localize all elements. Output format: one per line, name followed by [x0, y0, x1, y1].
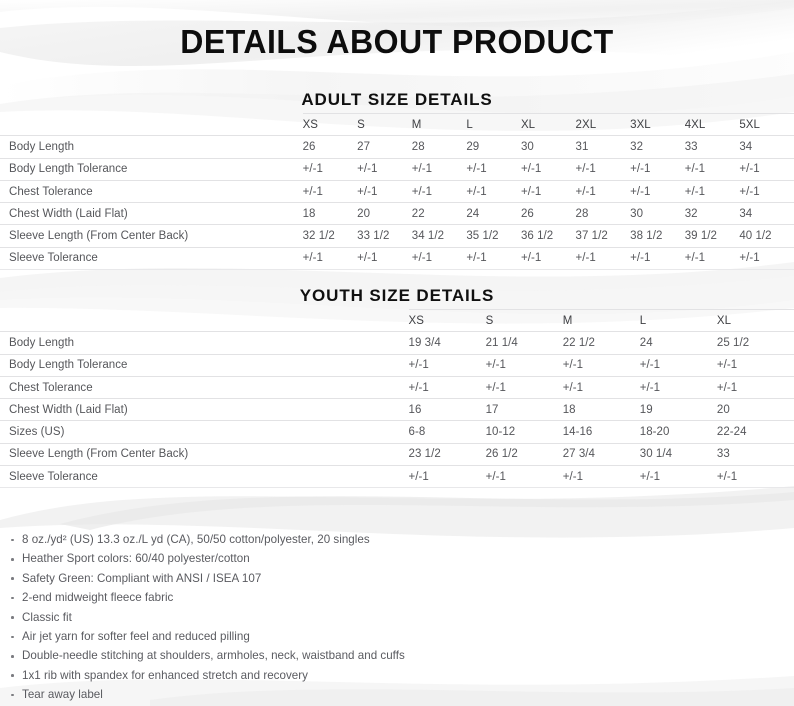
adult-column-header-3xl: 3XL [630, 114, 685, 136]
cell: 26 1/2 [486, 443, 563, 465]
cell: 17 [486, 399, 563, 421]
list-item: Safety Green: Compliant with ANSI / ISEA… [0, 569, 600, 588]
cell: 16 [409, 399, 486, 421]
adult-size-table: XS S M L XL 2XL 3XL 4XL 5XL Body Length … [0, 113, 794, 270]
cell: 28 [412, 136, 467, 158]
list-item: Tear away label [0, 685, 600, 704]
table-row: Sleeve Tolerance +/-1 +/-1 +/-1 +/-1 +/-… [0, 247, 794, 269]
row-label: Sleeve Tolerance [0, 247, 303, 269]
cell: +/-1 [630, 180, 685, 202]
cell: +/-1 [409, 354, 486, 376]
table-header-row: XS S M L XL [0, 310, 794, 332]
table-row: Body Length 19 3/4 21 1/4 22 1/2 24 25 1… [0, 332, 794, 354]
cell: +/-1 [486, 466, 563, 488]
cell: 32 [685, 203, 740, 225]
list-item: Classic fit [0, 608, 600, 627]
cell: 33 1/2 [357, 225, 412, 247]
cell: +/-1 [630, 158, 685, 180]
table-row: Sizes (US) 6-8 10-12 14-16 18-20 22-24 [0, 421, 794, 443]
adult-column-header-4xl: 4XL [685, 114, 740, 136]
cell: 18 [303, 203, 358, 225]
cell: 26 [521, 203, 576, 225]
adult-column-header-m: M [412, 114, 467, 136]
adult-column-header-s: S [357, 114, 412, 136]
cell: 10-12 [486, 421, 563, 443]
cell: 19 [640, 399, 717, 421]
youth-section-title: YOUTH SIZE DETAILS [0, 286, 794, 306]
cell: 6-8 [409, 421, 486, 443]
cell: +/-1 [521, 247, 576, 269]
table-row: Body Length Tolerance +/-1 +/-1 +/-1 +/-… [0, 158, 794, 180]
cell: 32 1/2 [303, 225, 358, 247]
cell: +/-1 [739, 180, 794, 202]
table-row: Chest Tolerance +/-1 +/-1 +/-1 +/-1 +/-1 [0, 376, 794, 398]
cell: +/-1 [630, 247, 685, 269]
adult-section-title: ADULT SIZE DETAILS [0, 90, 794, 110]
cell: 34 [739, 203, 794, 225]
cell: 18 [563, 399, 640, 421]
cell: 35 1/2 [466, 225, 521, 247]
cell: +/-1 [521, 180, 576, 202]
cell: 25 1/2 [717, 332, 794, 354]
product-features-list: 8 oz./yd² (US) 13.3 oz./L yd (CA), 50/50… [0, 530, 600, 705]
cell: +/-1 [412, 158, 467, 180]
list-item: 2-end midweight fleece fabric [0, 588, 600, 607]
row-label: Sleeve Length (From Center Back) [0, 443, 409, 465]
cell: 27 [357, 136, 412, 158]
adult-column-header-2xl: 2XL [576, 114, 631, 136]
cell: +/-1 [412, 247, 467, 269]
table-row: Sleeve Length (From Center Back) 23 1/2 … [0, 443, 794, 465]
list-item: Air jet yarn for softer feel and reduced… [0, 627, 600, 646]
cell: 24 [466, 203, 521, 225]
cell: +/-1 [303, 247, 358, 269]
row-label: Body Length Tolerance [0, 158, 303, 180]
row-label: Chest Tolerance [0, 376, 409, 398]
cell: 30 [630, 203, 685, 225]
table-row: Body Length Tolerance +/-1 +/-1 +/-1 +/-… [0, 354, 794, 376]
cell: 14-16 [563, 421, 640, 443]
adult-column-header-l: L [466, 114, 521, 136]
cell: +/-1 [576, 247, 631, 269]
list-item: Heather Sport colors: 60/40 polyester/co… [0, 549, 600, 568]
cell: +/-1 [685, 180, 740, 202]
cell: 21 1/4 [486, 332, 563, 354]
cell: 19 3/4 [409, 332, 486, 354]
table-row: Chest Width (Laid Flat) 18 20 22 24 26 2… [0, 203, 794, 225]
cell: +/-1 [563, 466, 640, 488]
cell: +/-1 [717, 376, 794, 398]
cell: +/-1 [563, 376, 640, 398]
row-label: Sizes (US) [0, 421, 409, 443]
cell: 22 [412, 203, 467, 225]
youth-column-header-s: S [486, 310, 563, 332]
cell: 37 1/2 [576, 225, 631, 247]
youth-column-header-xs: XS [409, 310, 486, 332]
cell: +/-1 [409, 466, 486, 488]
cell: 30 1/4 [640, 443, 717, 465]
table-row: Body Length 26 27 28 29 30 31 32 33 34 [0, 136, 794, 158]
cell: +/-1 [576, 158, 631, 180]
table-row: Chest Width (Laid Flat) 16 17 18 19 20 [0, 399, 794, 421]
cell: +/-1 [685, 158, 740, 180]
cell: 24 [640, 332, 717, 354]
cell: +/-1 [739, 158, 794, 180]
cell: 32 [630, 136, 685, 158]
table-row: Chest Tolerance +/-1 +/-1 +/-1 +/-1 +/-1… [0, 180, 794, 202]
cell: +/-1 [466, 247, 521, 269]
cell: 29 [466, 136, 521, 158]
list-item: Double-needle stitching at shoulders, ar… [0, 646, 600, 665]
row-label: Body Length [0, 136, 303, 158]
youth-column-header-m: M [563, 310, 640, 332]
cell: 28 [576, 203, 631, 225]
table-row: Sleeve Length (From Center Back) 32 1/2 … [0, 225, 794, 247]
cell: +/-1 [576, 180, 631, 202]
cell: +/-1 [466, 158, 521, 180]
product-details-page: DETAILS ABOUT PRODUCT ADULT SIZE DETAILS… [0, 0, 794, 706]
youth-column-header-l: L [640, 310, 717, 332]
cell: +/-1 [357, 158, 412, 180]
cell: 33 [717, 443, 794, 465]
cell: +/-1 [357, 180, 412, 202]
youth-column-header-xl: XL [717, 310, 794, 332]
row-label: Body Length Tolerance [0, 354, 409, 376]
cell: 20 [717, 399, 794, 421]
cell: +/-1 [717, 354, 794, 376]
cell: +/-1 [521, 158, 576, 180]
list-item: 1x1 rib with spandex for enhanced stretc… [0, 666, 600, 685]
cell: 22-24 [717, 421, 794, 443]
cell: 20 [357, 203, 412, 225]
cell: 39 1/2 [685, 225, 740, 247]
youth-size-table: XS S M L XL Body Length 19 3/4 21 1/4 22… [0, 309, 794, 488]
page-title: DETAILS ABOUT PRODUCT [12, 24, 782, 60]
youth-header-blank [0, 310, 409, 332]
cell: 30 [521, 136, 576, 158]
adult-column-header-xl: XL [521, 114, 576, 136]
cell: 40 1/2 [739, 225, 794, 247]
cell: +/-1 [739, 247, 794, 269]
cell: +/-1 [640, 376, 717, 398]
cell: +/-1 [486, 376, 563, 398]
cell: +/-1 [640, 354, 717, 376]
cell: 31 [576, 136, 631, 158]
cell: +/-1 [640, 466, 717, 488]
cell: +/-1 [685, 247, 740, 269]
row-label: Chest Width (Laid Flat) [0, 399, 409, 421]
row-label: Chest Tolerance [0, 180, 303, 202]
cell: +/-1 [717, 466, 794, 488]
cell: +/-1 [412, 180, 467, 202]
list-item: 8 oz./yd² (US) 13.3 oz./L yd (CA), 50/50… [0, 530, 600, 549]
cell: 38 1/2 [630, 225, 685, 247]
adult-column-header-xs: XS [303, 114, 358, 136]
cell: 34 1/2 [412, 225, 467, 247]
cell: 27 3/4 [563, 443, 640, 465]
cell: +/-1 [303, 180, 358, 202]
row-label: Sleeve Tolerance [0, 466, 409, 488]
adult-header-blank [0, 114, 303, 136]
cell: 36 1/2 [521, 225, 576, 247]
cell: +/-1 [357, 247, 412, 269]
cell: +/-1 [563, 354, 640, 376]
cell: 18-20 [640, 421, 717, 443]
cell: 22 1/2 [563, 332, 640, 354]
table-row: Sleeve Tolerance +/-1 +/-1 +/-1 +/-1 +/-… [0, 466, 794, 488]
adult-column-header-5xl: 5XL [739, 114, 794, 136]
row-label: Sleeve Length (From Center Back) [0, 225, 303, 247]
cell: +/-1 [466, 180, 521, 202]
cell: 26 [303, 136, 358, 158]
cell: 33 [685, 136, 740, 158]
cell: 34 [739, 136, 794, 158]
row-label: Body Length [0, 332, 409, 354]
cell: +/-1 [486, 354, 563, 376]
table-header-row: XS S M L XL 2XL 3XL 4XL 5XL [0, 114, 794, 136]
cell: +/-1 [409, 376, 486, 398]
cell: +/-1 [303, 158, 358, 180]
row-label: Chest Width (Laid Flat) [0, 203, 303, 225]
cell: 23 1/2 [409, 443, 486, 465]
